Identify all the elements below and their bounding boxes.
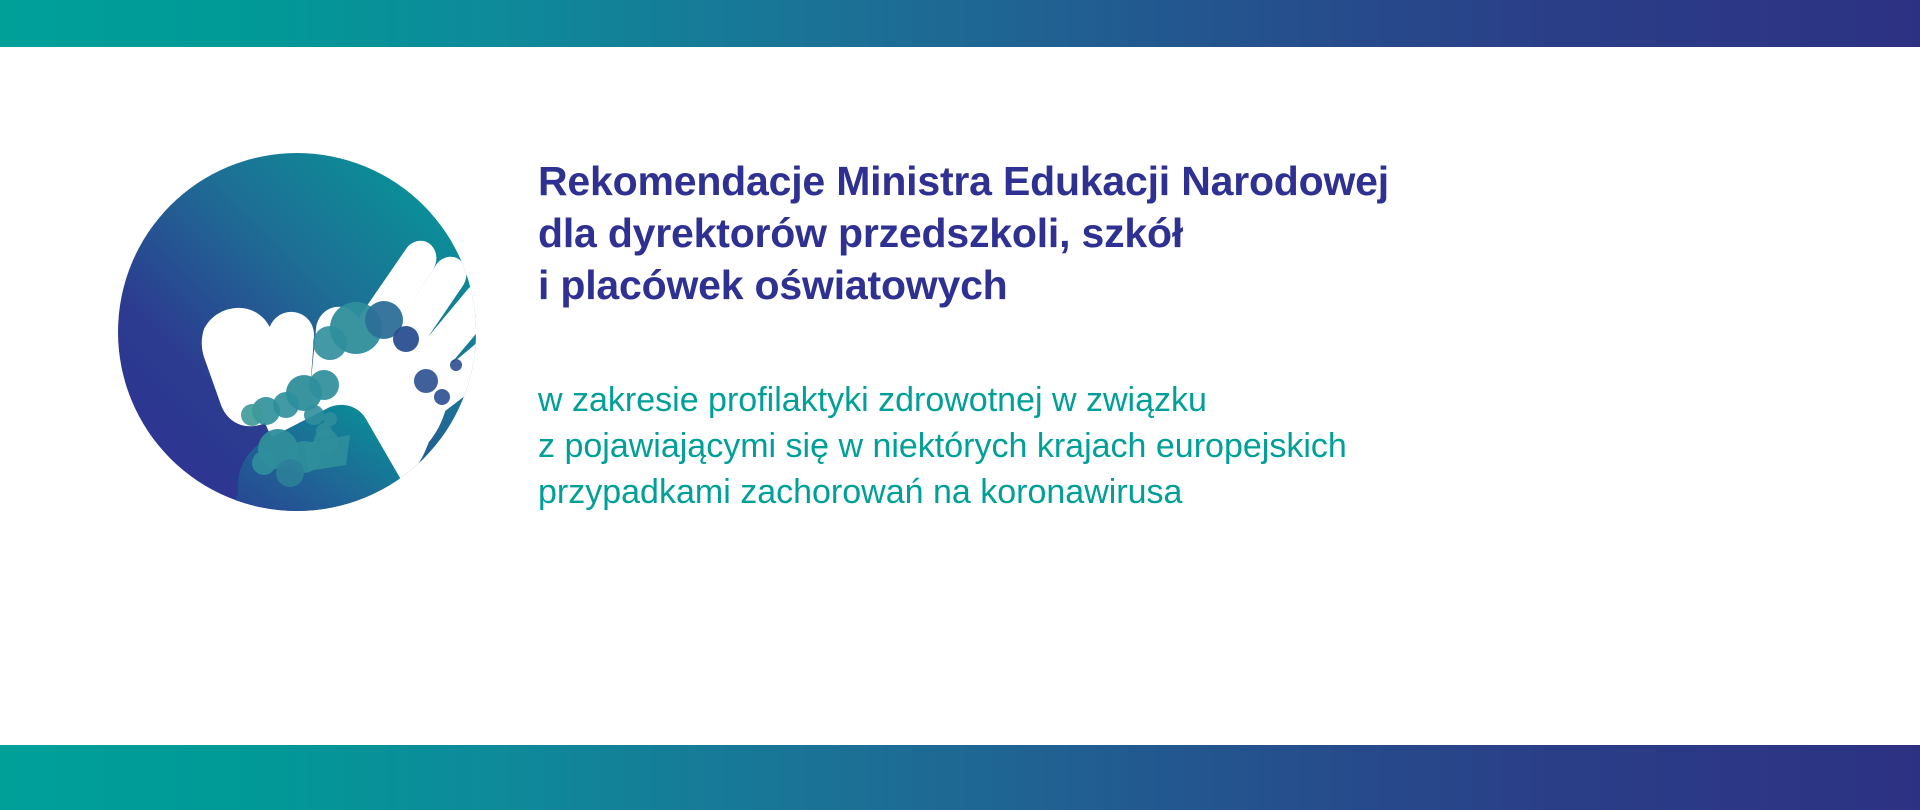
title-line-3: i placówek oświatowych <box>538 259 1858 311</box>
hand-washing-illustration <box>118 153 476 511</box>
poster-banner: Rekomendacje Ministra Edukacji Narodowej… <box>0 0 1920 810</box>
subtitle-line-2: z pojawiającymi się w niektórych krajach… <box>538 423 1858 469</box>
text-content-block: Rekomendacje Ministra Edukacji Narodowej… <box>538 155 1858 515</box>
page-subtitle: w zakresie profilaktyki zdrowotnej w zwi… <box>538 311 1858 515</box>
subtitle-line-3: przypadkami zachorowań na koronawirusa <box>538 469 1858 515</box>
title-line-2: dla dyrektorów przedszkoli, szkół <box>538 207 1858 259</box>
title-line-1: Rekomendacje Ministra Edukacji Narodowej <box>538 155 1858 207</box>
page-title: Rekomendacje Ministra Edukacji Narodowej… <box>538 155 1858 311</box>
top-gradient-bar <box>0 0 1920 47</box>
bottom-gradient-bar <box>0 745 1920 810</box>
subtitle-line-1: w zakresie profilaktyki zdrowotnej w zwi… <box>538 377 1858 423</box>
